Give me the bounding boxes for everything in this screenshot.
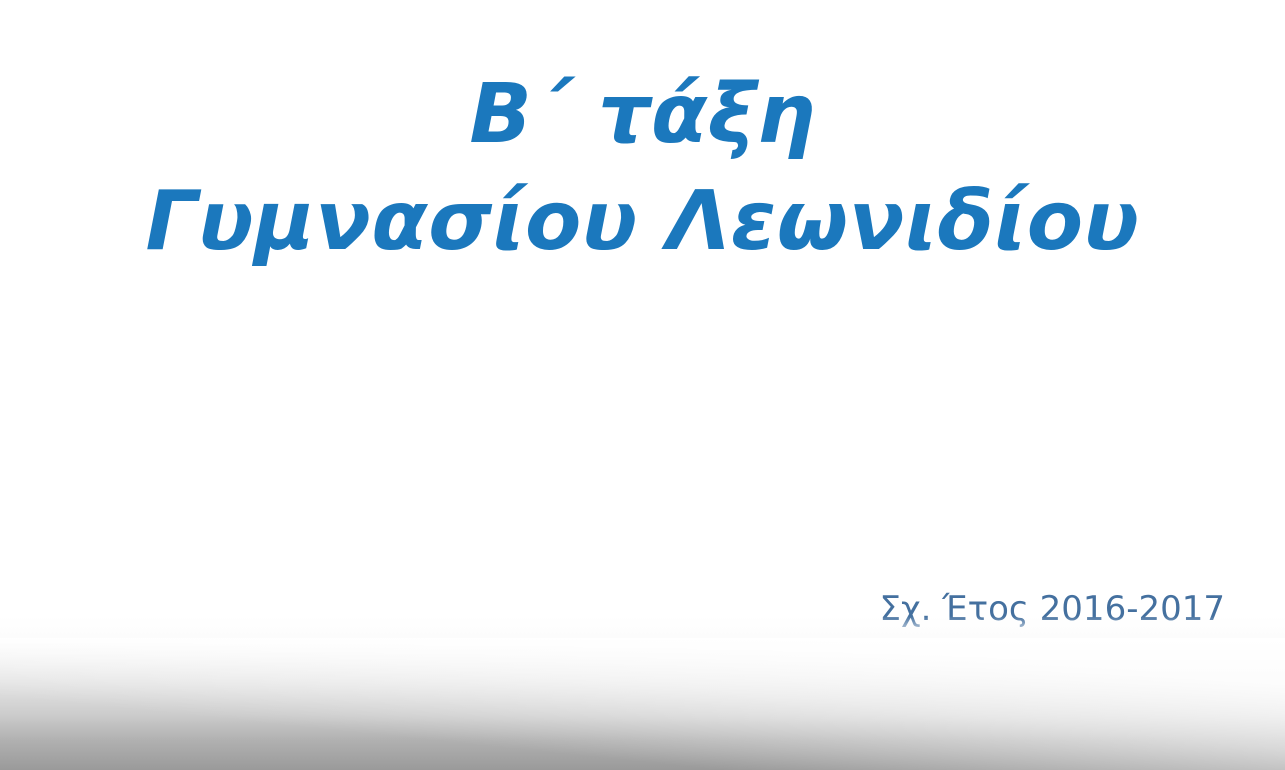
slide-title: Β΄ τάξη Γυμνασίου Λεωνιδίου bbox=[0, 62, 1285, 277]
slide-subtitle: Σχ. Έτος 2016-2017 Υπεύθυνη Καθηγήτρια Κ… bbox=[525, 578, 1225, 764]
subtitle-line-school-year: Σχ. Έτος 2016-2017 bbox=[525, 578, 1225, 640]
title-line-1: Β΄ τάξη bbox=[0, 62, 1285, 167]
presentation-slide: Β΄ τάξη Γυμνασίου Λεωνιδίου Σχ. Έτος 201… bbox=[0, 0, 1285, 770]
title-line-2: Γυμνασίου Λεωνιδίου bbox=[0, 167, 1285, 277]
subtitle-line-teacher-role: Υπεύθυνη Καθηγήτρια bbox=[525, 640, 1225, 702]
subtitle-line-teacher-name: Καττή Μεταξία bbox=[525, 702, 1225, 764]
